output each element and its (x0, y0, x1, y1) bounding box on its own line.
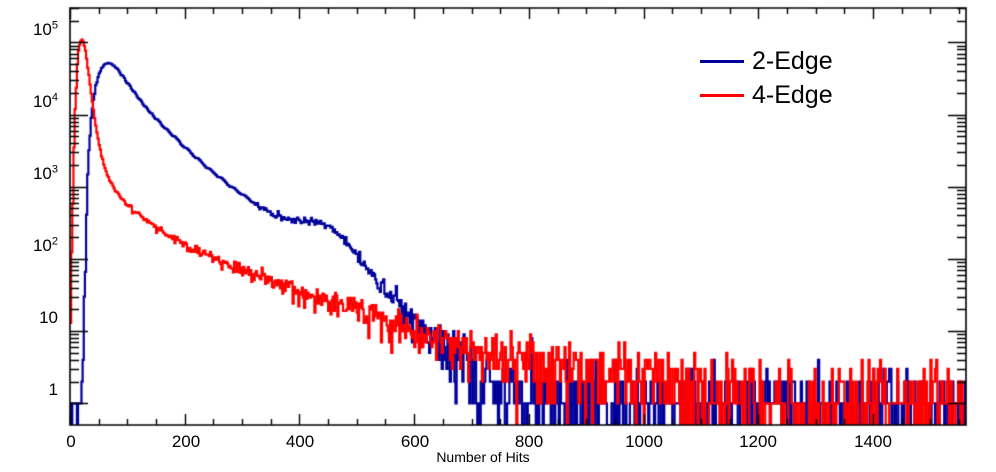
legend-swatch-4-edge (700, 94, 744, 97)
legend-entry-4-edge: 4-Edge (700, 78, 900, 112)
histogram-figure: 1 10 102 103 104 105 0 200 400 600 800 1… (0, 0, 996, 472)
legend-label-2-edge: 2-Edge (752, 44, 833, 78)
legend-label-4-edge: 4-Edge (752, 78, 833, 112)
legend: 2-Edge 4-Edge (700, 44, 900, 112)
legend-entry-2-edge: 2-Edge (700, 44, 900, 78)
legend-swatch-2-edge (700, 60, 744, 63)
